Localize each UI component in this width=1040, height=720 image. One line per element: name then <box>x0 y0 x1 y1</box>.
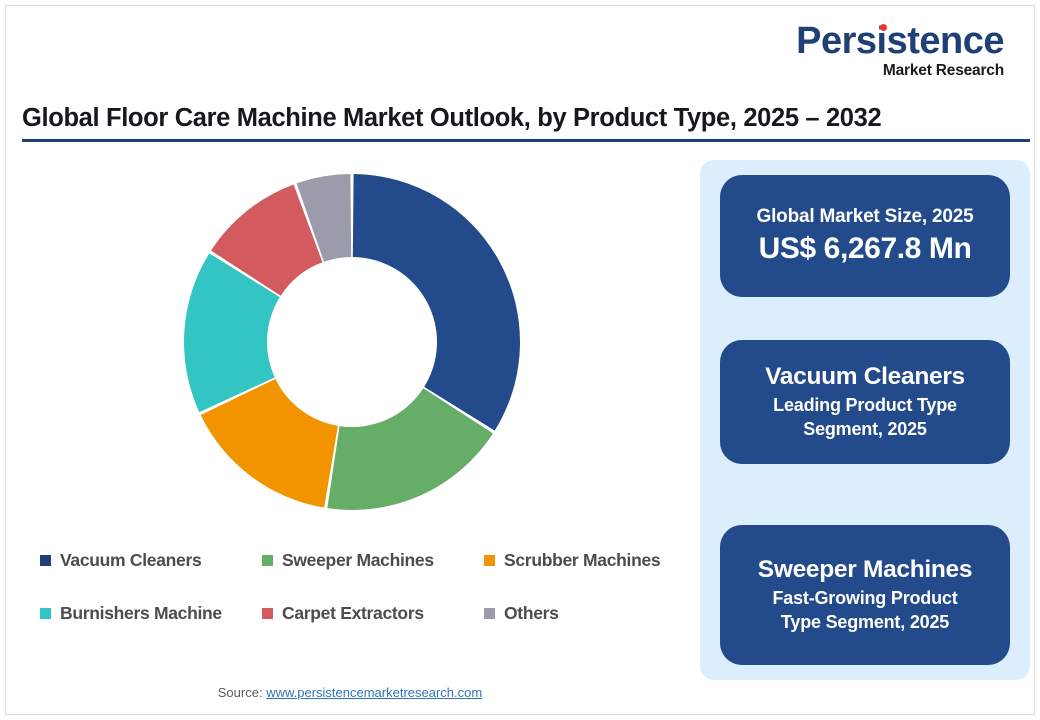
source-prefix: Source: <box>218 685 266 700</box>
legend-item-label: Sweeper Machines <box>282 550 434 571</box>
legend-item-sweeper-machines[interactable]: Sweeper Machines <box>262 550 484 571</box>
legend-item-label: Burnishers Machine <box>60 603 222 624</box>
legend-item-burnishers-machine[interactable]: Burnishers Machine <box>40 603 262 624</box>
donut-slice[interactable] <box>353 174 520 431</box>
logo-tagline: Market Research <box>796 63 1004 79</box>
legend-item-scrubber-machines[interactable]: Scrubber Machines <box>484 550 684 571</box>
legend-item-label: Carpet Extractors <box>282 603 424 624</box>
fastest-growing-caption-line1: Fast-Growing Product <box>772 587 957 610</box>
company-logo: Persistence Market Research <box>796 22 1004 79</box>
logo-wordmark: Persistence <box>796 22 1004 60</box>
market-size-value: US$ 6,267.8 Mn <box>759 231 972 267</box>
legend-item-label: Vacuum Cleaners <box>60 550 201 571</box>
donut-chart-svg <box>162 160 542 532</box>
logo-main-text: Persistence <box>796 20 1004 62</box>
title-block: Global Floor Care Machine Market Outlook… <box>22 104 1030 142</box>
legend-item-carpet-extractors[interactable]: Carpet Extractors <box>262 603 484 624</box>
chart-legend: Vacuum Cleaners Sweeper Machines Scrubbe… <box>40 550 700 624</box>
donut-slice-group <box>184 174 520 510</box>
legend-swatch-icon <box>262 555 273 566</box>
legend-swatch-icon <box>40 555 51 566</box>
legend-swatch-icon <box>484 608 495 619</box>
leading-segment-name: Vacuum Cleaners <box>765 363 965 391</box>
fastest-growing-caption-line2: Type Segment, 2025 <box>781 611 949 634</box>
leading-segment-card: Vacuum Cleaners Leading Product Type Seg… <box>720 340 1010 464</box>
source-line: Source: www.persistencemarketresearch.co… <box>0 685 700 700</box>
leading-segment-caption-line1: Leading Product Type <box>773 394 957 417</box>
leading-segment-caption-line2: Segment, 2025 <box>803 418 926 441</box>
donut-chart <box>14 160 690 540</box>
legend-swatch-icon <box>40 608 51 619</box>
fastest-growing-segment-card: Sweeper Machines Fast-Growing Product Ty… <box>720 525 1010 665</box>
legend-swatch-icon <box>484 555 495 566</box>
market-size-card: Global Market Size, 2025 US$ 6,267.8 Mn <box>720 175 1010 297</box>
page-title: Global Floor Care Machine Market Outlook… <box>22 104 1030 133</box>
source-link[interactable]: www.persistencemarketresearch.com <box>266 685 482 700</box>
legend-item-label: Others <box>504 603 559 624</box>
legend-item-others[interactable]: Others <box>484 603 684 624</box>
title-divider <box>22 139 1030 142</box>
legend-swatch-icon <box>262 608 273 619</box>
fastest-growing-segment-name: Sweeper Machines <box>758 556 972 584</box>
market-size-label: Global Market Size, 2025 <box>757 205 974 229</box>
legend-item-label: Scrubber Machines <box>504 550 660 571</box>
legend-item-vacuum-cleaners[interactable]: Vacuum Cleaners <box>40 550 262 571</box>
highlights-panel: Global Market Size, 2025 US$ 6,267.8 Mn … <box>700 160 1030 680</box>
